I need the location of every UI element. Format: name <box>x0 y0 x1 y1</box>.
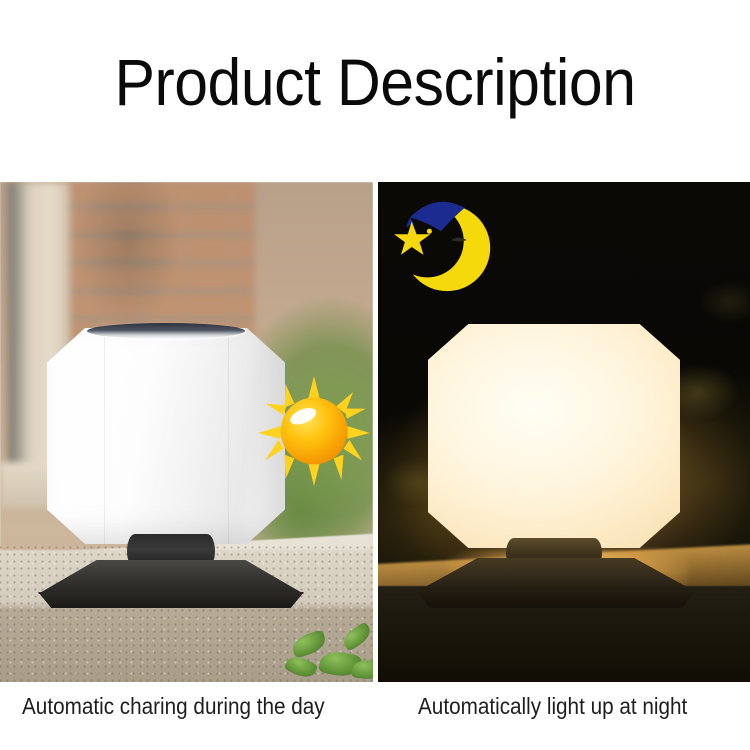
crescent-moon-icon <box>390 194 508 298</box>
lamp-shade-night <box>428 324 680 548</box>
panel-day <box>0 182 373 682</box>
captions-row: Automatic charing during the day Automat… <box>0 682 750 750</box>
sun-icon <box>255 374 373 488</box>
solar-panel-top <box>87 323 244 339</box>
solar-lamp-day <box>47 328 285 544</box>
page-title: Product Description <box>30 44 720 120</box>
product-description-page: Product Description <box>0 0 750 750</box>
caption-day: Automatic charing during the day <box>22 690 325 722</box>
panel-night <box>378 182 750 682</box>
green-leaves <box>286 600 373 682</box>
lamp-shade-day <box>47 328 285 544</box>
comparison-panels <box>0 182 750 682</box>
lamp-base-plate-front-day <box>38 592 304 608</box>
lamp-base-plate-front-night <box>416 590 696 608</box>
solar-lamp-night <box>428 324 680 548</box>
caption-night: Automatically light up at night <box>418 690 687 722</box>
